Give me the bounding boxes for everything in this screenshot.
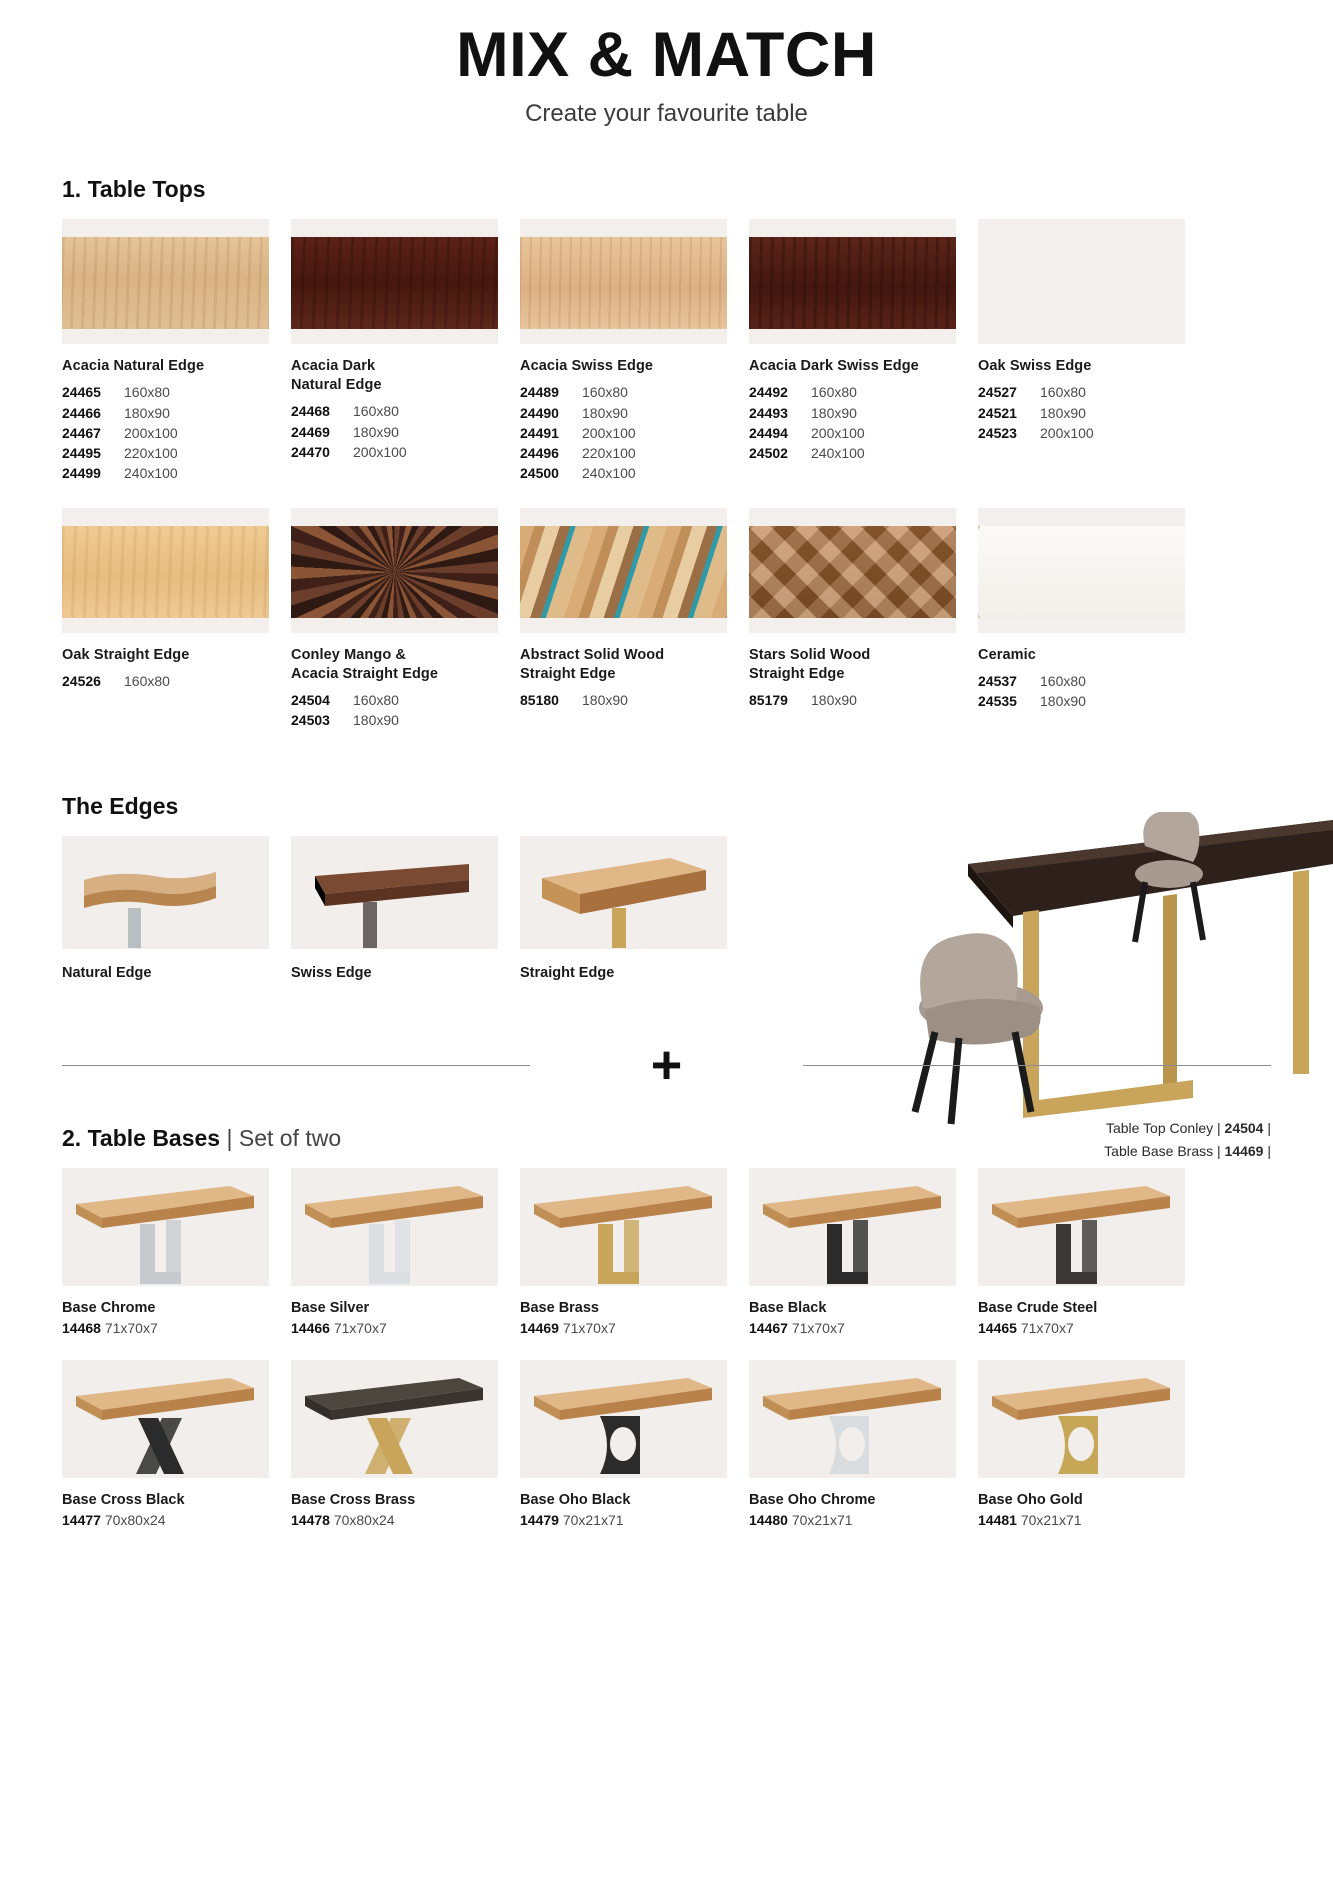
product-size: 160x80 (353, 690, 399, 710)
product-size: 180x90 (811, 690, 857, 710)
table-top-card[interactable]: Acacia DarkNatural Edge24468160x80244691… (291, 219, 498, 484)
product-code: 24537 (978, 671, 1040, 691)
table-base-code-row: 14477 70x80x24 (62, 1512, 269, 1528)
table-base-name: Base Chrome (62, 1300, 269, 1316)
table-top-code-row: 24523200x100 (978, 423, 1185, 443)
product-code: 24526 (62, 671, 124, 691)
product-code: 24470 (291, 442, 353, 462)
table-top-code-list: 24468160x8024469180x9024470200x100 (291, 401, 498, 462)
product-size: 70x21x71 (559, 1512, 624, 1528)
product-code: 24468 (291, 401, 353, 421)
table-base-image (291, 1360, 498, 1478)
product-code: 14467 (749, 1320, 788, 1336)
table-top-code-row: 85180180x90 (520, 690, 727, 710)
section-title-table-tops: 1. Table Tops (62, 176, 1271, 203)
product-code: 24502 (749, 443, 811, 463)
table-top-code-list: 85180180x90 (520, 690, 727, 710)
table-top-card[interactable]: Oak Swiss Edge24527160x8024521180x902452… (978, 219, 1185, 484)
table-top-code-row: 24504160x80 (291, 690, 498, 710)
product-code: 24466 (62, 403, 124, 423)
table-base-name: Base Crude Steel (978, 1300, 1185, 1316)
table-base-name: Base Cross Brass (291, 1492, 498, 1508)
product-size: 160x80 (1040, 671, 1086, 691)
product-code: 24535 (978, 691, 1040, 711)
table-top-code-row: 24493180x90 (749, 403, 956, 423)
wood-swatch (520, 526, 727, 618)
wood-swatch (62, 237, 269, 329)
table-top-code-row: 24503180x90 (291, 710, 498, 730)
product-size: 200x100 (582, 423, 636, 443)
table-top-code-row: 24469180x90 (291, 422, 498, 442)
table-base-code-row: 14481 70x21x71 (978, 1512, 1185, 1528)
product-code: 24495 (62, 443, 124, 463)
product-code: 24493 (749, 403, 811, 423)
table-top-code-list: 24465160x8024466180x9024467200x100244952… (62, 382, 269, 483)
table-top-card[interactable]: Ceramic24537160x8024535180x90 (978, 508, 1185, 731)
table-base-name: Base Oho Black (520, 1492, 727, 1508)
product-size: 160x80 (353, 401, 399, 421)
table-top-code-row: 24494200x100 (749, 423, 956, 443)
page-title: MIX & MATCH (62, 22, 1271, 88)
table-top-code-row: 24537160x80 (978, 671, 1185, 691)
table-base-code-row: 14480 70x21x71 (749, 1512, 956, 1528)
table-base-code-row: 14469 71x70x7 (520, 1320, 727, 1336)
wood-swatch (978, 237, 1185, 329)
table-top-code-row: 24499240x100 (62, 463, 269, 483)
table-base-card[interactable]: Base Black14467 71x70x7 (749, 1168, 956, 1336)
table-top-name: Abstract Solid WoodStraight Edge (520, 646, 727, 684)
product-size: 71x70x7 (788, 1320, 845, 1336)
table-top-name: Acacia Natural Edge (62, 357, 269, 376)
lifestyle-caption: Table Top Conley | 24504 | Table Base Br… (1104, 1117, 1271, 1162)
table-base-card[interactable]: Base Cross Black14477 70x80x24 (62, 1360, 269, 1528)
table-top-code-row: 24492160x80 (749, 382, 956, 402)
table-base-card[interactable]: Base Crude Steel14465 71x70x7 (978, 1168, 1185, 1336)
page-header: MIX & MATCH Create your favourite table (62, 0, 1271, 128)
table-base-card[interactable]: Base Oho Gold14481 70x21x71 (978, 1360, 1185, 1528)
divider-line-left (62, 1065, 530, 1066)
plus-sign: + (651, 1039, 683, 1091)
product-code: 24489 (520, 382, 582, 402)
table-top-code-row: 24470200x100 (291, 442, 498, 462)
table-base-image (978, 1168, 1185, 1286)
table-base-image (978, 1360, 1185, 1478)
product-size: 240x100 (582, 463, 636, 483)
table-base-card[interactable]: Base Chrome14468 71x70x7 (62, 1168, 269, 1336)
table-top-image (520, 219, 727, 344)
table-top-image (978, 508, 1185, 633)
product-size: 180x90 (582, 690, 628, 710)
wood-swatch (978, 526, 1185, 618)
product-code: 85180 (520, 690, 582, 710)
product-code: 24465 (62, 382, 124, 402)
table-top-name: Conley Mango &Acacia Straight Edge (291, 646, 498, 684)
product-size: 160x80 (811, 382, 857, 402)
table-top-code-list: 85179180x90 (749, 690, 956, 710)
product-size: 71x70x7 (559, 1320, 616, 1336)
product-code: 24504 (291, 690, 353, 710)
table-top-code-row: 24500240x100 (520, 463, 727, 483)
product-code: 14466 (291, 1320, 330, 1336)
table-top-image (62, 508, 269, 633)
table-top-image (291, 508, 498, 633)
table-top-code-row: 24496220x100 (520, 443, 727, 463)
lifestyle-caption-line-1: Table Top Conley | 24504 | (1104, 1117, 1271, 1140)
lifestyle-caption-line-2: Table Base Brass | 14469 | (1104, 1140, 1271, 1163)
product-code: 24496 (520, 443, 582, 463)
table-tops-row-2: Oak Straight Edge24526160x80Conley Mango… (62, 508, 1271, 731)
table-top-name: Oak Swiss Edge (978, 357, 1185, 376)
table-top-image (978, 219, 1185, 344)
table-top-code-row: 24495220x100 (62, 443, 269, 463)
edge-image (62, 836, 269, 949)
product-size: 220x100 (582, 443, 636, 463)
table-top-code-row: 24527160x80 (978, 382, 1185, 402)
product-size: 180x90 (811, 403, 857, 423)
table-top-code-list: 24527160x8024521180x9024523200x100 (978, 382, 1185, 443)
table-top-code-list: 24504160x8024503180x90 (291, 690, 498, 731)
product-code: 85179 (749, 690, 811, 710)
table-top-name: Acacia Dark Swiss Edge (749, 357, 956, 376)
table-top-image (291, 219, 498, 344)
product-size: 180x90 (353, 422, 399, 442)
table-base-name: Base Black (749, 1300, 956, 1316)
product-size: 70x80x24 (330, 1512, 395, 1528)
table-top-card[interactable]: Oak Straight Edge24526160x80 (62, 508, 269, 731)
table-top-name: Acacia Swiss Edge (520, 357, 727, 376)
product-code: 14469 (520, 1320, 559, 1336)
product-size: 180x90 (582, 403, 628, 423)
table-top-name: Stars Solid WoodStraight Edge (749, 646, 956, 684)
table-base-image (520, 1168, 727, 1286)
edge-name: Swiss Edge (291, 965, 498, 981)
product-code: 24503 (291, 710, 353, 730)
table-base-image (62, 1360, 269, 1478)
product-size: 240x100 (811, 443, 865, 463)
edge-image (520, 836, 727, 949)
table-top-code-row: 24468160x80 (291, 401, 498, 421)
table-top-code-row: 85179180x90 (749, 690, 956, 710)
edge-image (291, 836, 498, 949)
product-size: 180x90 (1040, 403, 1086, 423)
table-top-code-list: 24492160x8024493180x9024494200x100245022… (749, 382, 956, 463)
edge-card[interactable]: Swiss Edge (291, 836, 498, 981)
product-size: 70x80x24 (101, 1512, 166, 1528)
table-base-card[interactable]: Base Oho Chrome14480 70x21x71 (749, 1360, 956, 1528)
product-size: 160x80 (124, 382, 170, 402)
table-base-name: Base Brass (520, 1300, 727, 1316)
product-size: 160x80 (1040, 382, 1086, 402)
table-top-name: Ceramic (978, 646, 1185, 665)
wood-swatch (291, 237, 498, 329)
table-top-name: Oak Straight Edge (62, 646, 269, 665)
table-base-image (62, 1168, 269, 1286)
table-top-code-list: 24537160x8024535180x90 (978, 671, 1185, 712)
table-base-name: Base Oho Gold (978, 1492, 1185, 1508)
product-code: 24523 (978, 423, 1040, 443)
product-size: 200x100 (1040, 423, 1094, 443)
table-base-image (749, 1168, 956, 1286)
table-base-image (520, 1360, 727, 1478)
plus-divider: + (62, 1039, 1271, 1091)
product-size: 200x100 (353, 442, 407, 462)
table-base-code-row: 14468 71x70x7 (62, 1320, 269, 1336)
table-top-image (749, 508, 956, 633)
table-top-code-row: 24489160x80 (520, 382, 727, 402)
table-base-card[interactable]: Base Oho Black14479 70x21x71 (520, 1360, 727, 1528)
product-code: 14478 (291, 1512, 330, 1528)
table-top-card[interactable]: Stars Solid WoodStraight Edge85179180x90 (749, 508, 956, 731)
catalog-page: MIX & MATCH Create your favourite table … (0, 0, 1333, 1885)
product-size: 71x70x7 (1017, 1320, 1074, 1336)
product-code: 14468 (62, 1320, 101, 1336)
table-top-code-list: 24489160x8024490180x9024491200x100244962… (520, 382, 727, 483)
page-subtitle: Create your favourite table (62, 100, 1271, 128)
product-code: 24490 (520, 403, 582, 423)
table-base-card[interactable]: Base Silver14466 71x70x7 (291, 1168, 498, 1336)
product-code: 14477 (62, 1512, 101, 1528)
table-top-name: Acacia DarkNatural Edge (291, 357, 498, 395)
product-size: 160x80 (582, 382, 628, 402)
product-code: 24467 (62, 423, 124, 443)
table-top-card[interactable]: Abstract Solid WoodStraight Edge85180180… (520, 508, 727, 731)
product-size: 70x21x71 (788, 1512, 853, 1528)
product-code: 14480 (749, 1512, 788, 1528)
table-top-code-row: 24535180x90 (978, 691, 1185, 711)
table-bases-row-2: Base Cross Black14477 70x80x24Base Cross… (62, 1360, 1271, 1528)
table-top-card[interactable]: Acacia Natural Edge24465160x8024466180x9… (62, 219, 269, 484)
table-top-image (62, 219, 269, 344)
table-top-code-row: 24502240x100 (749, 443, 956, 463)
table-top-code-list: 24526160x80 (62, 671, 269, 691)
table-top-card[interactable]: Acacia Dark Swiss Edge24492160x802449318… (749, 219, 956, 484)
divider-line-right (803, 1065, 1271, 1066)
wood-swatch (291, 526, 498, 618)
edge-name: Natural Edge (62, 965, 269, 981)
table-top-code-row: 24490180x90 (520, 403, 727, 423)
table-base-code-row: 14478 70x80x24 (291, 1512, 498, 1528)
product-code: 24492 (749, 382, 811, 402)
table-base-name: Base Silver (291, 1300, 498, 1316)
product-size: 200x100 (811, 423, 865, 443)
table-top-code-row: 24465160x80 (62, 382, 269, 402)
table-top-code-row: 24521180x90 (978, 403, 1185, 423)
product-size: 180x90 (353, 710, 399, 730)
product-code: 24521 (978, 403, 1040, 423)
product-size: 70x21x71 (1017, 1512, 1082, 1528)
product-code: 14479 (520, 1512, 559, 1528)
table-top-code-row: 24526160x80 (62, 671, 269, 691)
product-code: 14465 (978, 1320, 1017, 1336)
table-base-name: Base Oho Chrome (749, 1492, 956, 1508)
table-base-image (749, 1360, 956, 1478)
edge-card[interactable]: Natural Edge (62, 836, 269, 981)
table-base-name: Base Cross Black (62, 1492, 269, 1508)
product-code: 24499 (62, 463, 124, 483)
table-top-code-row: 24467200x100 (62, 423, 269, 443)
wood-swatch (520, 237, 727, 329)
table-base-image (291, 1168, 498, 1286)
edge-name: Straight Edge (520, 965, 727, 981)
table-base-code-row: 14467 71x70x7 (749, 1320, 956, 1336)
wood-swatch (749, 237, 956, 329)
table-top-code-row: 24466180x90 (62, 403, 269, 423)
product-code: 24500 (520, 463, 582, 483)
product-size: 220x100 (124, 443, 178, 463)
product-code: 24494 (749, 423, 811, 443)
product-code: 24527 (978, 382, 1040, 402)
table-base-card[interactable]: Base Cross Brass14478 70x80x24 (291, 1360, 498, 1528)
wood-swatch (62, 526, 269, 618)
table-base-code-row: 14465 71x70x7 (978, 1320, 1185, 1336)
edge-card[interactable]: Straight Edge (520, 836, 727, 981)
table-top-card[interactable]: Conley Mango &Acacia Straight Edge245041… (291, 508, 498, 731)
table-top-image (749, 219, 956, 344)
product-code: 14481 (978, 1512, 1017, 1528)
product-size: 71x70x7 (330, 1320, 387, 1336)
product-code: 24491 (520, 423, 582, 443)
product-code: 24469 (291, 422, 353, 442)
table-top-image (520, 508, 727, 633)
product-size: 71x70x7 (101, 1320, 158, 1336)
product-size: 160x80 (124, 671, 170, 691)
table-base-card[interactable]: Base Brass14469 71x70x7 (520, 1168, 727, 1336)
table-tops-row-1: Acacia Natural Edge24465160x8024466180x9… (62, 219, 1271, 484)
table-base-code-row: 14479 70x21x71 (520, 1512, 727, 1528)
product-size: 200x100 (124, 423, 178, 443)
product-size: 180x90 (1040, 691, 1086, 711)
product-size: 180x90 (124, 403, 170, 423)
table-top-code-row: 24491200x100 (520, 423, 727, 443)
product-size: 240x100 (124, 463, 178, 483)
table-base-code-row: 14466 71x70x7 (291, 1320, 498, 1336)
table-bases-row-1: Base Chrome14468 71x70x7Base Silver14466… (62, 1168, 1271, 1336)
wood-swatch (749, 526, 956, 618)
table-top-card[interactable]: Acacia Swiss Edge24489160x8024490180x902… (520, 219, 727, 484)
